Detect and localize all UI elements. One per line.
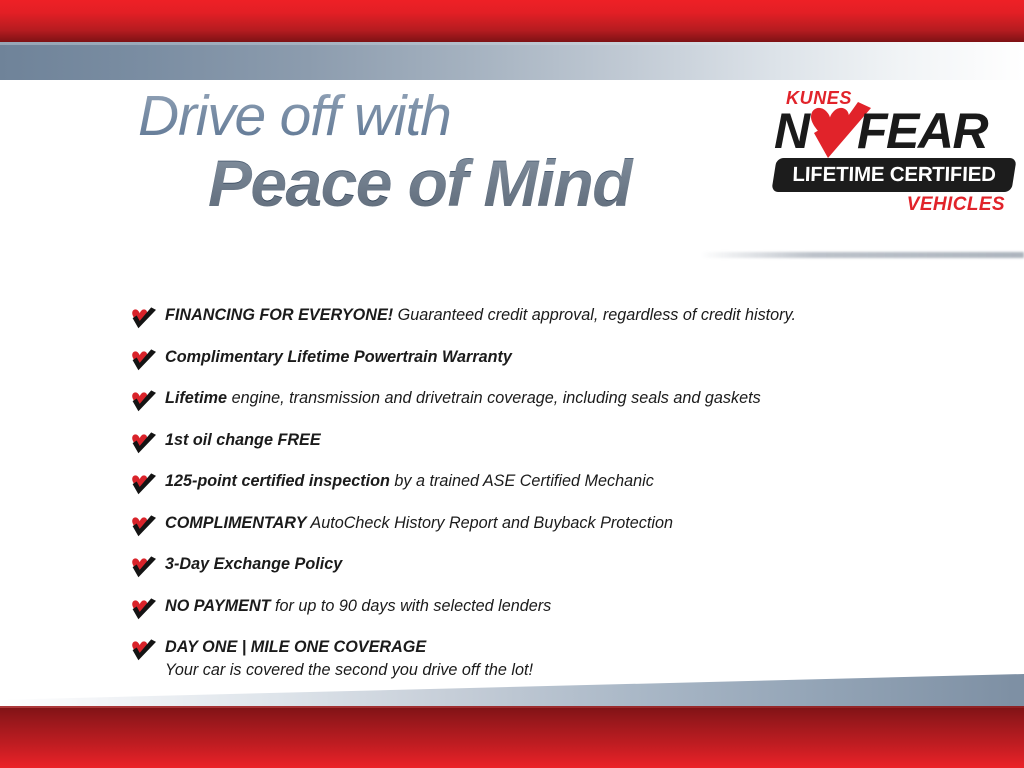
header: Drive off with Peace of Mind KUNES N FEA… [0, 80, 1024, 260]
feature-detail: engine, transmission and drivetrain cove… [227, 389, 761, 407]
feature-item: Complimentary Lifetime Powertrain Warran… [130, 347, 950, 379]
feature-detail: Guaranteed credit approval, regardless o… [393, 306, 796, 324]
headline-line-2: Peace of Mind [208, 149, 758, 218]
heart-check-icon [130, 598, 157, 620]
feature-text: FINANCING FOR EVERYONE! Guaranteed credi… [165, 305, 950, 325]
heart-check-icon [130, 349, 157, 371]
heart-check-icon [130, 473, 157, 495]
feature-item: 1st oil change FREE [130, 430, 950, 462]
heart-check-icon [130, 556, 157, 578]
feature-text: NO PAYMENT for up to 90 days with select… [165, 596, 950, 616]
logo-certified-bar-text: LIFETIME CERTIFIED [771, 158, 1016, 192]
heart-check-icon [130, 432, 157, 454]
feature-lead: DAY ONE | MILE ONE COVERAGE [165, 638, 426, 656]
logo-word-fear: FEAR [857, 106, 987, 156]
feature-detail: by a trained ASE Certified Mechanic [390, 472, 654, 490]
header-divider [700, 252, 1024, 258]
feature-item: DAY ONE | MILE ONE COVERAGEYour car is c… [130, 637, 950, 681]
heart-check-icon [130, 515, 157, 537]
kunes-no-fear-logo: KUNES N FEAR LIFETIME CERTIFIED VEHICLES [770, 88, 1015, 223]
feature-item: NO PAYMENT for up to 90 days with select… [130, 596, 950, 628]
top-red-band [0, 0, 1024, 42]
heart-check-icon [130, 349, 157, 371]
feature-item: 125-point certified inspection by a trai… [130, 471, 950, 503]
heart-check-icon [130, 639, 157, 661]
promo-page: Drive off with Peace of Mind KUNES N FEA… [0, 0, 1024, 768]
feature-lead: 3-Day Exchange Policy [165, 555, 342, 573]
logo-nofear-wordmark: N FEAR [774, 106, 1014, 158]
heart-check-icon [130, 639, 157, 661]
features-list: FINANCING FOR EVERYONE! Guaranteed credi… [130, 305, 950, 691]
feature-item: FINANCING FOR EVERYONE! Guaranteed credi… [130, 305, 950, 337]
feature-text: DAY ONE | MILE ONE COVERAGE [165, 637, 950, 657]
heart-check-icon [130, 515, 157, 537]
heart-check-icon [130, 390, 157, 412]
top-gray-band [0, 42, 1024, 80]
feature-item: COMPLIMENTARY AutoCheck History Report a… [130, 513, 950, 545]
feature-text: COMPLIMENTARY AutoCheck History Report a… [165, 513, 950, 533]
feature-lead: COMPLIMENTARY [165, 514, 307, 532]
heart-check-icon [130, 307, 157, 329]
feature-lead: NO PAYMENT [165, 597, 271, 615]
headline-line-1: Drive off with [138, 88, 758, 145]
feature-item: 3-Day Exchange Policy [130, 554, 950, 586]
feature-lead: Complimentary Lifetime Powertrain Warran… [165, 348, 512, 366]
feature-lead: 125-point certified inspection [165, 472, 390, 490]
feature-detail: AutoCheck History Report and Buyback Pro… [307, 514, 674, 532]
headline-block: Drive off with Peace of Mind [138, 88, 758, 218]
feature-text: 1st oil change FREE [165, 430, 950, 450]
bottom-red-band [0, 706, 1024, 768]
feature-subtext: Your car is covered the second you drive… [165, 659, 950, 681]
heart-check-icon [130, 390, 157, 412]
feature-text: Lifetime engine, transmission and drivet… [165, 388, 950, 408]
heart-check-icon [130, 473, 157, 495]
heart-check-icon [130, 432, 157, 454]
feature-text: 3-Day Exchange Policy [165, 554, 950, 574]
feature-lead: Lifetime [165, 389, 227, 407]
feature-item: Lifetime engine, transmission and drivet… [130, 388, 950, 420]
feature-detail: for up to 90 days with selected lenders [271, 597, 552, 615]
feature-lead: 1st oil change FREE [165, 431, 321, 449]
feature-lead: FINANCING FOR EVERYONE! [165, 306, 393, 324]
logo-vehicles-text: VEHICLES [907, 194, 1005, 216]
feature-text: Complimentary Lifetime Powertrain Warran… [165, 347, 950, 367]
heart-check-icon [130, 598, 157, 620]
heart-check-icon [130, 307, 157, 329]
feature-text: 125-point certified inspection by a trai… [165, 471, 950, 491]
heart-check-icon [130, 556, 157, 578]
